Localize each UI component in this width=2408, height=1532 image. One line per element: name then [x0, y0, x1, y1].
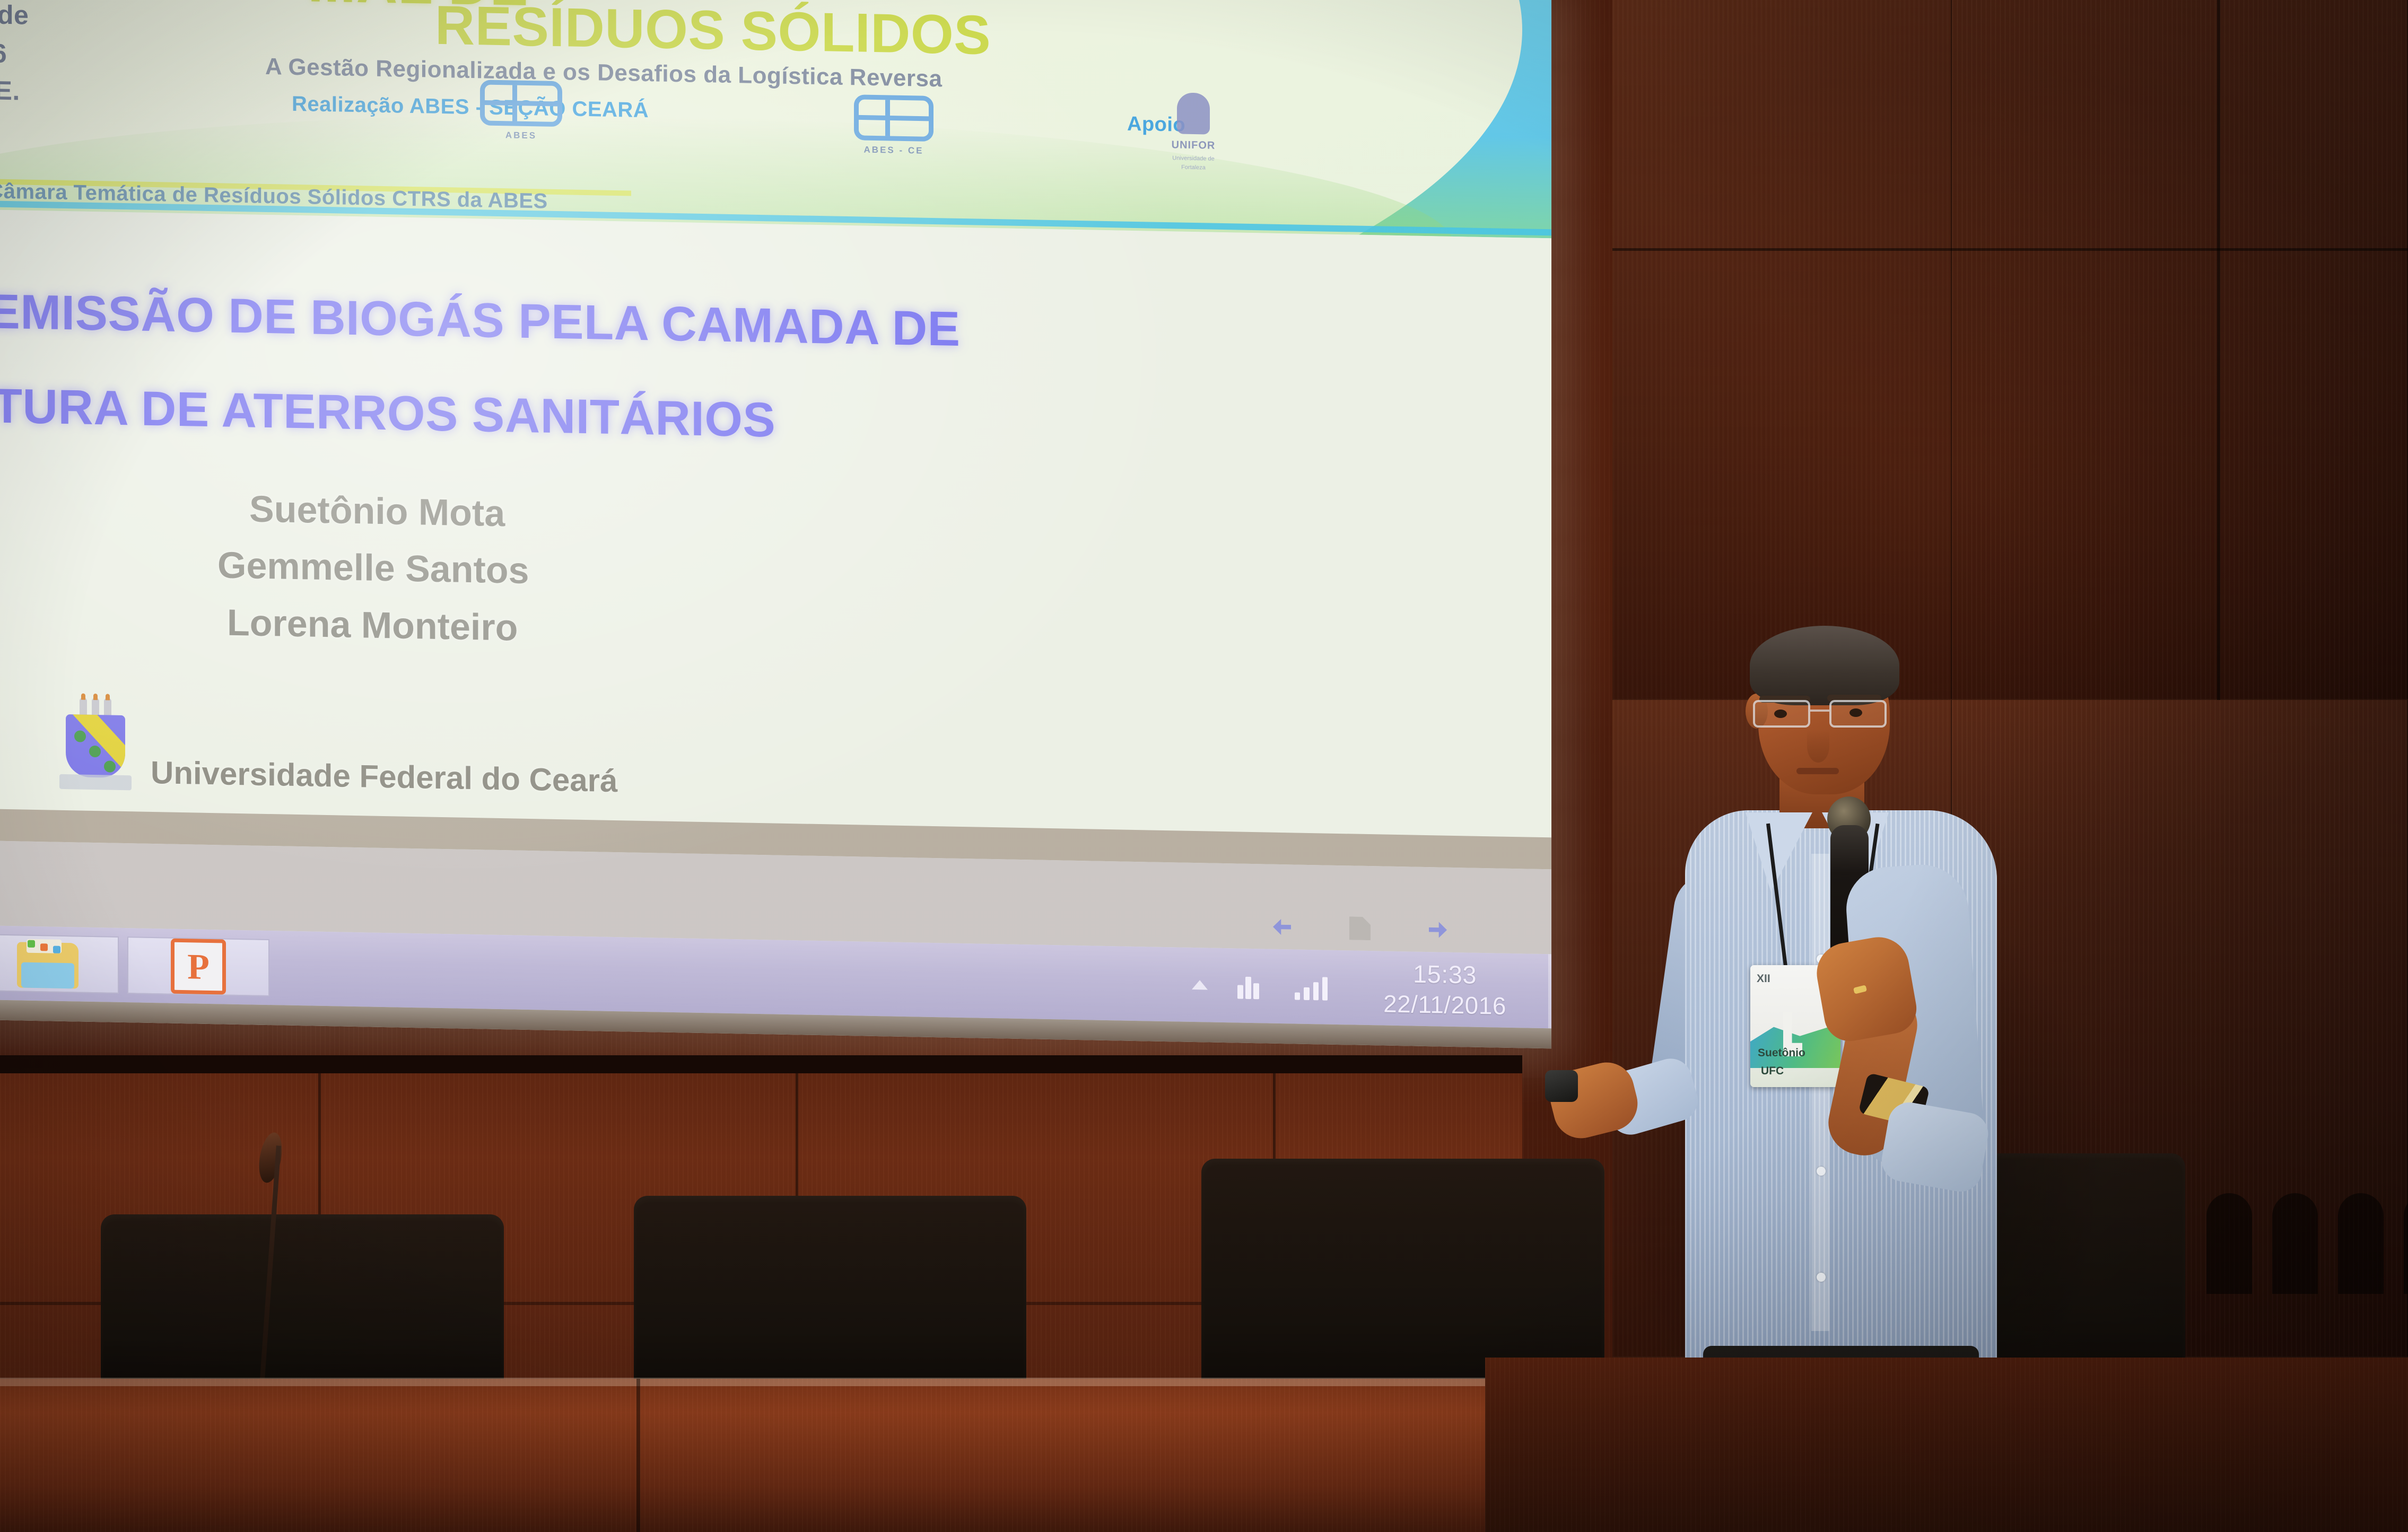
arch-recess: [2272, 1193, 2318, 1294]
wall-seam-horizontal: [1612, 248, 2408, 251]
signal-bars-icon[interactable]: [1295, 973, 1328, 1000]
institution-row: Universidade Federal do Ceará: [58, 696, 617, 799]
table-top-rail: [0, 1055, 1522, 1073]
system-tray[interactable]: 15:33 22/11/2016: [1192, 955, 1551, 1022]
presenter-mouth: [1796, 768, 1839, 774]
presenter-eye-right: [1849, 708, 1862, 717]
wall-panel-b: [1952, 0, 2408, 700]
abes-national-caption: ABES: [480, 129, 562, 142]
chair-1: [101, 1214, 504, 1389]
event-title-line2: RESÍDUOS SÓLIDOS: [435, 0, 991, 67]
desk-edge-highlight: [0, 1378, 1485, 1386]
taskbar-button-explorer[interactable]: [0, 934, 119, 994]
folder-icon: [17, 939, 78, 988]
slideshow-navigation-bar[interactable]: [1273, 915, 1447, 942]
slide-body: DA EMISSÃO DE BIOGÁS PELA CAMADA DE BERT…: [0, 209, 1551, 838]
abes-ceara-logo-icon: ABES - CE: [854, 94, 933, 160]
eyeglasses-icon: [1750, 700, 1896, 730]
presenter-eye-left: [1774, 710, 1787, 718]
next-slide-icon[interactable]: [1429, 922, 1447, 938]
author-name-1: Suetônio Mota: [249, 487, 505, 535]
institution-name: Universidade Federal do Ceará: [151, 754, 617, 799]
clock-date: 22/11/2016: [1383, 990, 1506, 1020]
header-left-line1: de: [0, 0, 29, 31]
presenter-nose: [1807, 730, 1829, 763]
presentation-remote-icon: [1545, 1070, 1578, 1102]
abes-national-logo-icon: ABES: [480, 80, 562, 150]
pointer-options-icon[interactable]: [1349, 916, 1371, 940]
taskbar-button-powerpoint[interactable]: P: [127, 936, 269, 996]
slide-title-line1: DA EMISSÃO DE BIOGÁS PELA CAMADA DE: [0, 282, 961, 357]
taskbar-right-edge: [1548, 954, 1551, 1028]
abes-ceara-caption: ABES - CE: [854, 144, 933, 156]
unifor-logo-icon: UNIFOR Universidade de Fortaleza: [1162, 92, 1225, 173]
author-name-3: Lorena Monteiro: [227, 601, 518, 649]
taskbar-clock[interactable]: 15:33 22/11/2016: [1357, 957, 1532, 1021]
wall-arch-recess-group: [2206, 1193, 2408, 1294]
author-name-2: Gemmelle Santos: [217, 544, 529, 592]
arch-recess: [2338, 1193, 2384, 1294]
header-left-line3: za-CE.: [0, 74, 20, 107]
previous-slide-icon[interactable]: [1273, 919, 1291, 935]
wall-seam-vertical: [2217, 0, 2220, 700]
show-hidden-icons-caret-icon[interactable]: [1192, 980, 1208, 990]
desk-front-panel: [0, 1379, 1485, 1532]
arch-recess: [2206, 1193, 2252, 1294]
badge-name: Suetônio: [1758, 1047, 1805, 1060]
powerpoint-icon: P: [171, 939, 226, 995]
shirt-placket: [1811, 854, 1829, 1331]
slide-title-line2: BERTURA DE ATERROS SANITÁRIOS: [0, 377, 775, 449]
lower-right-wall-panel: [1485, 1358, 2408, 1532]
header-left-line2: 2016: [0, 37, 7, 69]
screenshot-root: ...AL DE RESÍDUOS SÓLIDOS A Gestão Regio…: [0, 0, 2408, 1532]
desk-front-seam: [636, 1379, 640, 1532]
unifor-subtitle: Universidade de Fortaleza: [1162, 154, 1225, 172]
slide-header-band: ...AL DE RESÍDUOS SÓLIDOS A Gestão Regio…: [0, 0, 1551, 238]
projection-screen: ...AL DE RESÍDUOS SÓLIDOS A Gestão Regio…: [0, 0, 1551, 1048]
unifor-caption: UNIFOR: [1162, 139, 1225, 152]
arch-recess: [2404, 1193, 2408, 1294]
chair-2: [634, 1196, 1026, 1389]
chair-3: [1201, 1159, 1604, 1389]
shirt-button: [1817, 1167, 1826, 1176]
presenter-hair: [1750, 626, 1899, 705]
network-icon[interactable]: [1237, 973, 1265, 1000]
shirt-button: [1817, 1273, 1826, 1282]
wall-panel-a: [1612, 0, 1952, 700]
ufc-crest-icon: [58, 696, 133, 791]
badge-affiliation: UFC: [1761, 1065, 1784, 1078]
clock-time: 15:33: [1413, 959, 1477, 988]
